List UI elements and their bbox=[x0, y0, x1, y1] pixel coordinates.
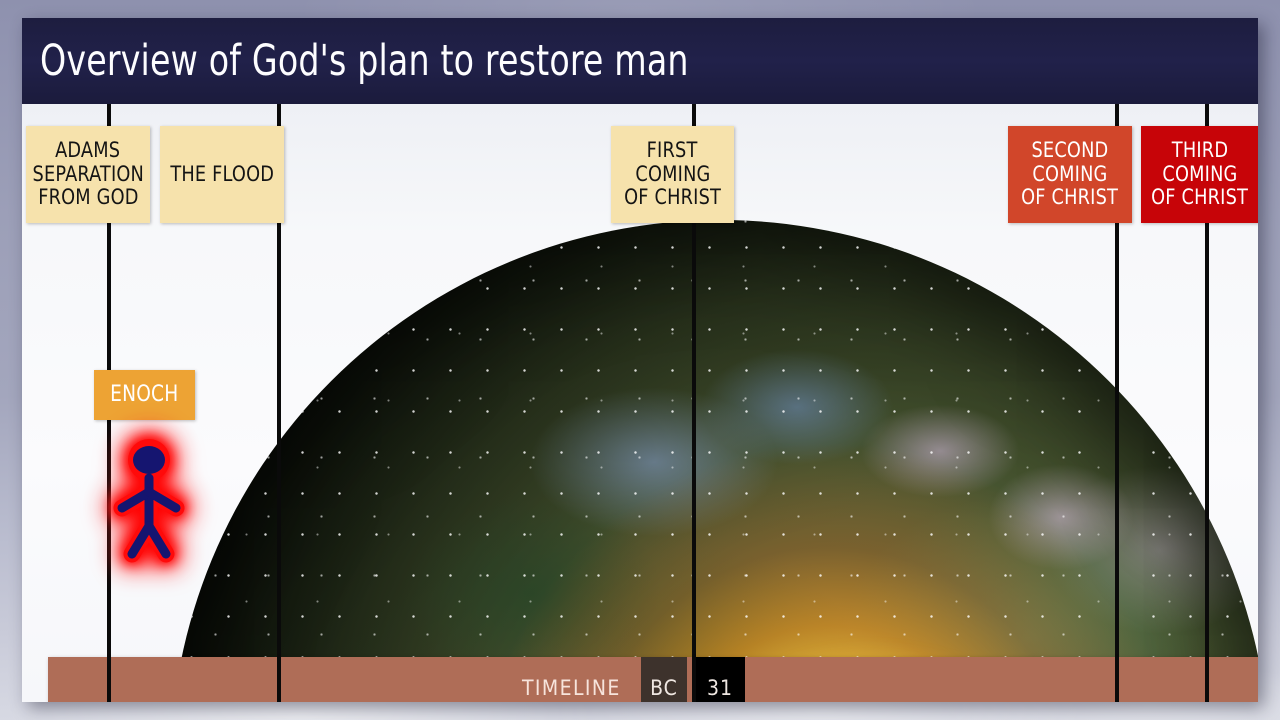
timeline-segment-bc-label: BC bbox=[650, 676, 678, 700]
marker-card-the-flood[interactable]: THE FLOOD bbox=[160, 126, 284, 223]
marker-card-adams-separation[interactable]: ADAMS SEPARATION FROM GOD bbox=[26, 126, 150, 223]
timeline-tick-first-coming bbox=[692, 657, 696, 702]
marker-label-line-1: SECOND bbox=[1032, 139, 1109, 163]
timeline-label: TIMELINE bbox=[522, 657, 621, 702]
marker-label-line-2: SEPARATION bbox=[32, 163, 143, 187]
timeline-tick-adams-separation bbox=[107, 657, 111, 702]
marker-label-line-1: THE FLOOD bbox=[170, 163, 274, 187]
marker-label-line-2: COMING bbox=[1162, 163, 1237, 187]
slide-body: ENOCH bbox=[22, 104, 1258, 702]
timeline-bar[interactable]: TIMELINE BC 31 bbox=[48, 657, 1258, 702]
presentation-backdrop: Overview of God's plan to restore man EN… bbox=[0, 0, 1280, 720]
marker-card-first-coming-of-christ[interactable]: FIRST COMING OF CHRIST bbox=[611, 126, 734, 223]
earth-globe-image bbox=[170, 220, 1258, 702]
marker-label-line-3: OF CHRIST bbox=[624, 186, 721, 210]
marker-card-enoch[interactable]: ENOCH bbox=[94, 370, 195, 420]
timeline-tick-third-coming bbox=[1205, 657, 1209, 702]
marker-label-line-3: OF CHRIST bbox=[1022, 186, 1119, 210]
marker-label-line-1: FIRST bbox=[647, 139, 698, 163]
timeline-segment-year-31[interactable]: 31 bbox=[695, 657, 745, 702]
stick-figure-icon bbox=[106, 434, 192, 564]
slide-title-bar: Overview of God's plan to restore man bbox=[22, 18, 1258, 104]
timeline-segment-bc[interactable]: BC bbox=[641, 657, 687, 702]
marker-label-line-3: OF CHRIST bbox=[1152, 186, 1249, 210]
marker-label-line-1: THIRD bbox=[1172, 139, 1228, 163]
timeline-tick-the-flood bbox=[277, 657, 281, 702]
marker-label-enoch: ENOCH bbox=[110, 382, 178, 407]
marker-label-line-3: FROM GOD bbox=[38, 186, 138, 210]
page-title: Overview of God's plan to restore man bbox=[40, 36, 689, 86]
globe-speckle-overlay bbox=[170, 220, 1258, 702]
marker-card-third-coming-of-christ[interactable]: THIRD COMING OF CHRIST bbox=[1141, 126, 1258, 223]
timeline-segment-year-31-label: 31 bbox=[707, 676, 733, 700]
timeline-tick-second-coming bbox=[1115, 657, 1119, 702]
marker-card-second-coming-of-christ[interactable]: SECOND COMING OF CHRIST bbox=[1008, 126, 1132, 223]
marker-label-line-1: ADAMS bbox=[55, 139, 120, 163]
marker-label-line-2: COMING bbox=[635, 163, 710, 187]
marker-label-line-2: COMING bbox=[1032, 163, 1107, 187]
slide: Overview of God's plan to restore man EN… bbox=[22, 18, 1258, 702]
